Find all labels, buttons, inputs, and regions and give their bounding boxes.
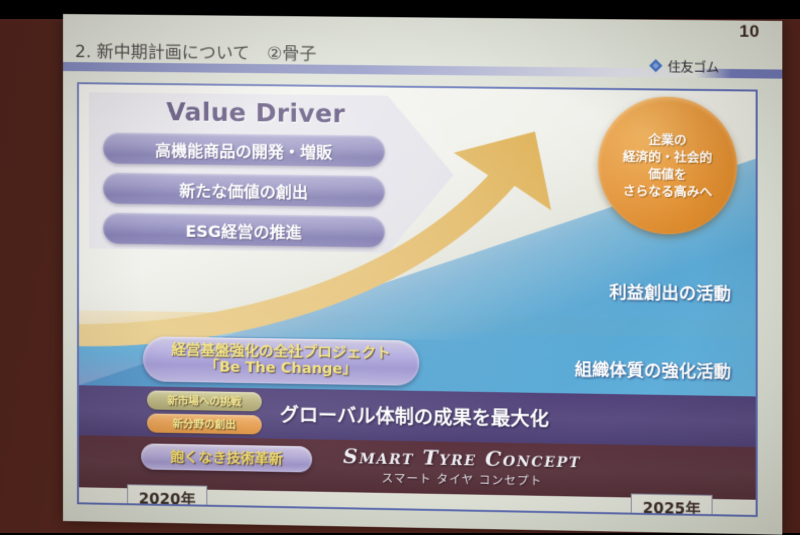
slide-title: 2. 新中期計画について ②骨子 xyxy=(75,37,316,65)
goal-circle-line-3: 価値を xyxy=(648,166,686,183)
pill-new-field-creation[interactable]: 新分野の創出 xyxy=(147,413,262,434)
be-the-change-line-2: 「Be The Change」 xyxy=(205,360,358,378)
page-number: 10 xyxy=(739,22,759,42)
value-driver-item-2[interactable]: 新たな価値の創出 xyxy=(103,173,385,208)
label-profit-activity: 利益創出の活動 xyxy=(609,278,731,305)
projection-room: 10 2. 新中期計画について ②骨子 住友ゴム xyxy=(0,0,800,533)
be-the-change-pill[interactable]: 経営基盤強化の全社プロジェクト 「Be The Change」 xyxy=(143,336,419,386)
logo-text: 住友ゴム xyxy=(668,56,719,76)
timeline-start-year: 2020年 xyxy=(127,484,207,512)
goal-circle: 企業の 経済的・社会的 価値を さらなる高みへ xyxy=(598,96,737,235)
company-logo: 住友ゴム xyxy=(649,56,719,76)
label-global-maximize: グローバル体制の成果を最大化 xyxy=(280,400,549,432)
value-driver-item-1[interactable]: 高機能商品の開発・増販 xyxy=(103,132,385,167)
label-organization-activity: 組織体質の強化活動 xyxy=(575,355,731,383)
pill-relentless-innovation[interactable]: 飽くなき技術革新 xyxy=(141,443,312,472)
pill-new-market-challenge[interactable]: 新市場への挑戦 xyxy=(147,390,262,411)
value-driver-item-3[interactable]: ESG経営の推進 xyxy=(103,213,385,248)
smart-tyre-concept-title: Smart Tyre Concept xyxy=(330,444,594,473)
smart-tyre-concept: Smart Tyre Concept スマート タイヤ コンセプト xyxy=(330,444,594,490)
goal-circle-line-4: さらなる高みへ xyxy=(623,183,712,200)
value-driver-heading: Value Driver xyxy=(115,97,397,129)
goal-circle-line-1: 企業の xyxy=(648,131,686,148)
goal-circle-line-2: 経済的・社会的 xyxy=(623,148,712,165)
timeline-end-year: 2025年 xyxy=(631,493,713,517)
projected-slide: 10 2. 新中期計画について ②骨子 住友ゴム xyxy=(63,14,782,535)
slide-content-frame: Value Driver 高機能商品の開発・増販 新たな価値の創出 ESG経営の… xyxy=(77,82,758,517)
diamond-icon xyxy=(649,59,662,72)
